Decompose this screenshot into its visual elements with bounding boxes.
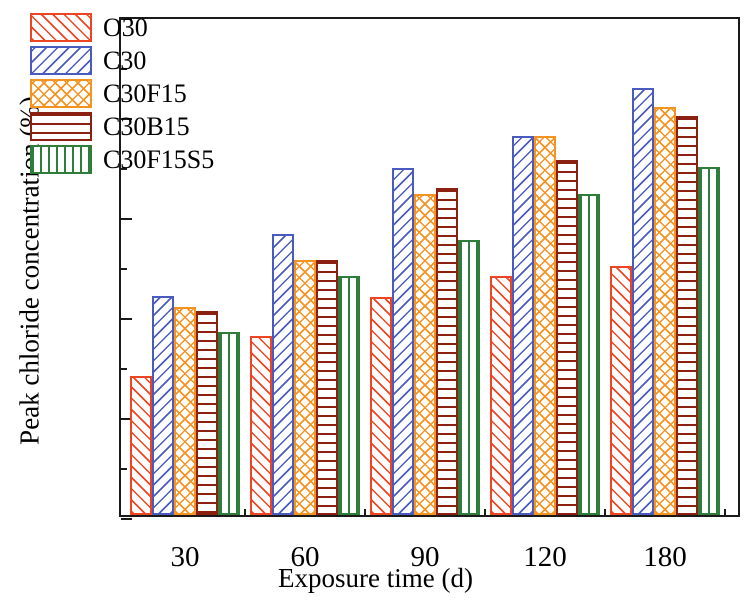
- bar-c30b15-180d: [676, 116, 698, 515]
- bar-o30-90d: [370, 297, 392, 515]
- bar-c30b15-60d: [316, 260, 338, 515]
- bar-o30-120d: [490, 276, 512, 515]
- legend-swatch-icon: [30, 145, 92, 174]
- y-axis-minor-tick: [121, 268, 127, 270]
- legend-swatch-icon: [30, 46, 92, 75]
- legend-item-c30[interactable]: C30: [30, 44, 214, 77]
- x-axis-tick-label: 30: [125, 542, 245, 572]
- y-axis-minor-tick: [121, 368, 127, 370]
- legend-item-o30[interactable]: O30: [30, 11, 214, 44]
- x-axis-tick-label: 60: [245, 542, 365, 572]
- bar-c30-90d: [392, 168, 414, 515]
- bar-c30-120d: [512, 136, 534, 515]
- chart-figure: Peak chloride concentration (%) Exposure…: [0, 0, 751, 609]
- bar-c30-180d: [632, 88, 654, 515]
- legend-label: C30F15: [103, 81, 187, 107]
- bar-c30b15-120d: [556, 160, 578, 515]
- bar-c30f15s5-60d: [338, 276, 360, 515]
- y-axis-tick: [121, 218, 132, 220]
- legend-label: C30F15S5: [103, 147, 214, 173]
- bar-o30-30d: [130, 376, 152, 515]
- x-axis-minor-tick: [364, 509, 366, 515]
- bar-c30-30d: [152, 296, 174, 515]
- y-axis-tick: [121, 518, 132, 520]
- x-axis-minor-tick: [604, 509, 606, 515]
- y-axis-minor-tick: [121, 468, 127, 470]
- bar-o30-180d: [610, 266, 632, 515]
- bar-c30f15s5-90d: [458, 240, 480, 515]
- x-axis-minor-tick: [244, 509, 246, 515]
- x-axis-minor-tick: [484, 509, 486, 515]
- legend-label: C30: [103, 48, 146, 74]
- bar-c30f15s5-30d: [218, 332, 240, 515]
- bar-c30b15-30d: [196, 311, 218, 515]
- bar-c30f15-60d: [294, 260, 316, 515]
- y-axis-tick: [121, 318, 132, 320]
- x-axis-minor-tick: [724, 509, 726, 515]
- x-axis-tick-label: 120: [485, 542, 605, 572]
- bar-c30-60d: [272, 234, 294, 515]
- legend-item-c30f15s5[interactable]: C30F15S5: [30, 143, 214, 176]
- legend-swatch-icon: [30, 79, 92, 108]
- bar-c30f15s5-180d: [698, 167, 720, 515]
- bar-c30b15-90d: [436, 188, 458, 515]
- bar-o30-60d: [250, 336, 272, 515]
- legend: O30C30C30F15C30B15C30F15S5: [30, 11, 214, 176]
- legend-item-c30f15[interactable]: C30F15: [30, 77, 214, 110]
- bar-c30f15-90d: [414, 194, 436, 515]
- bar-c30f15-180d: [654, 107, 676, 515]
- legend-item-c30b15[interactable]: C30B15: [30, 110, 214, 143]
- bar-c30f15-120d: [534, 136, 556, 515]
- bar-c30f15-30d: [174, 307, 196, 515]
- bar-c30f15s5-120d: [578, 194, 600, 515]
- legend-swatch-icon: [30, 112, 92, 141]
- legend-label: O30: [103, 15, 148, 41]
- x-axis-tick-label: 90: [365, 542, 485, 572]
- legend-label: C30B15: [103, 114, 190, 140]
- legend-swatch-icon: [30, 13, 92, 42]
- x-axis-tick-label: 180: [605, 542, 725, 572]
